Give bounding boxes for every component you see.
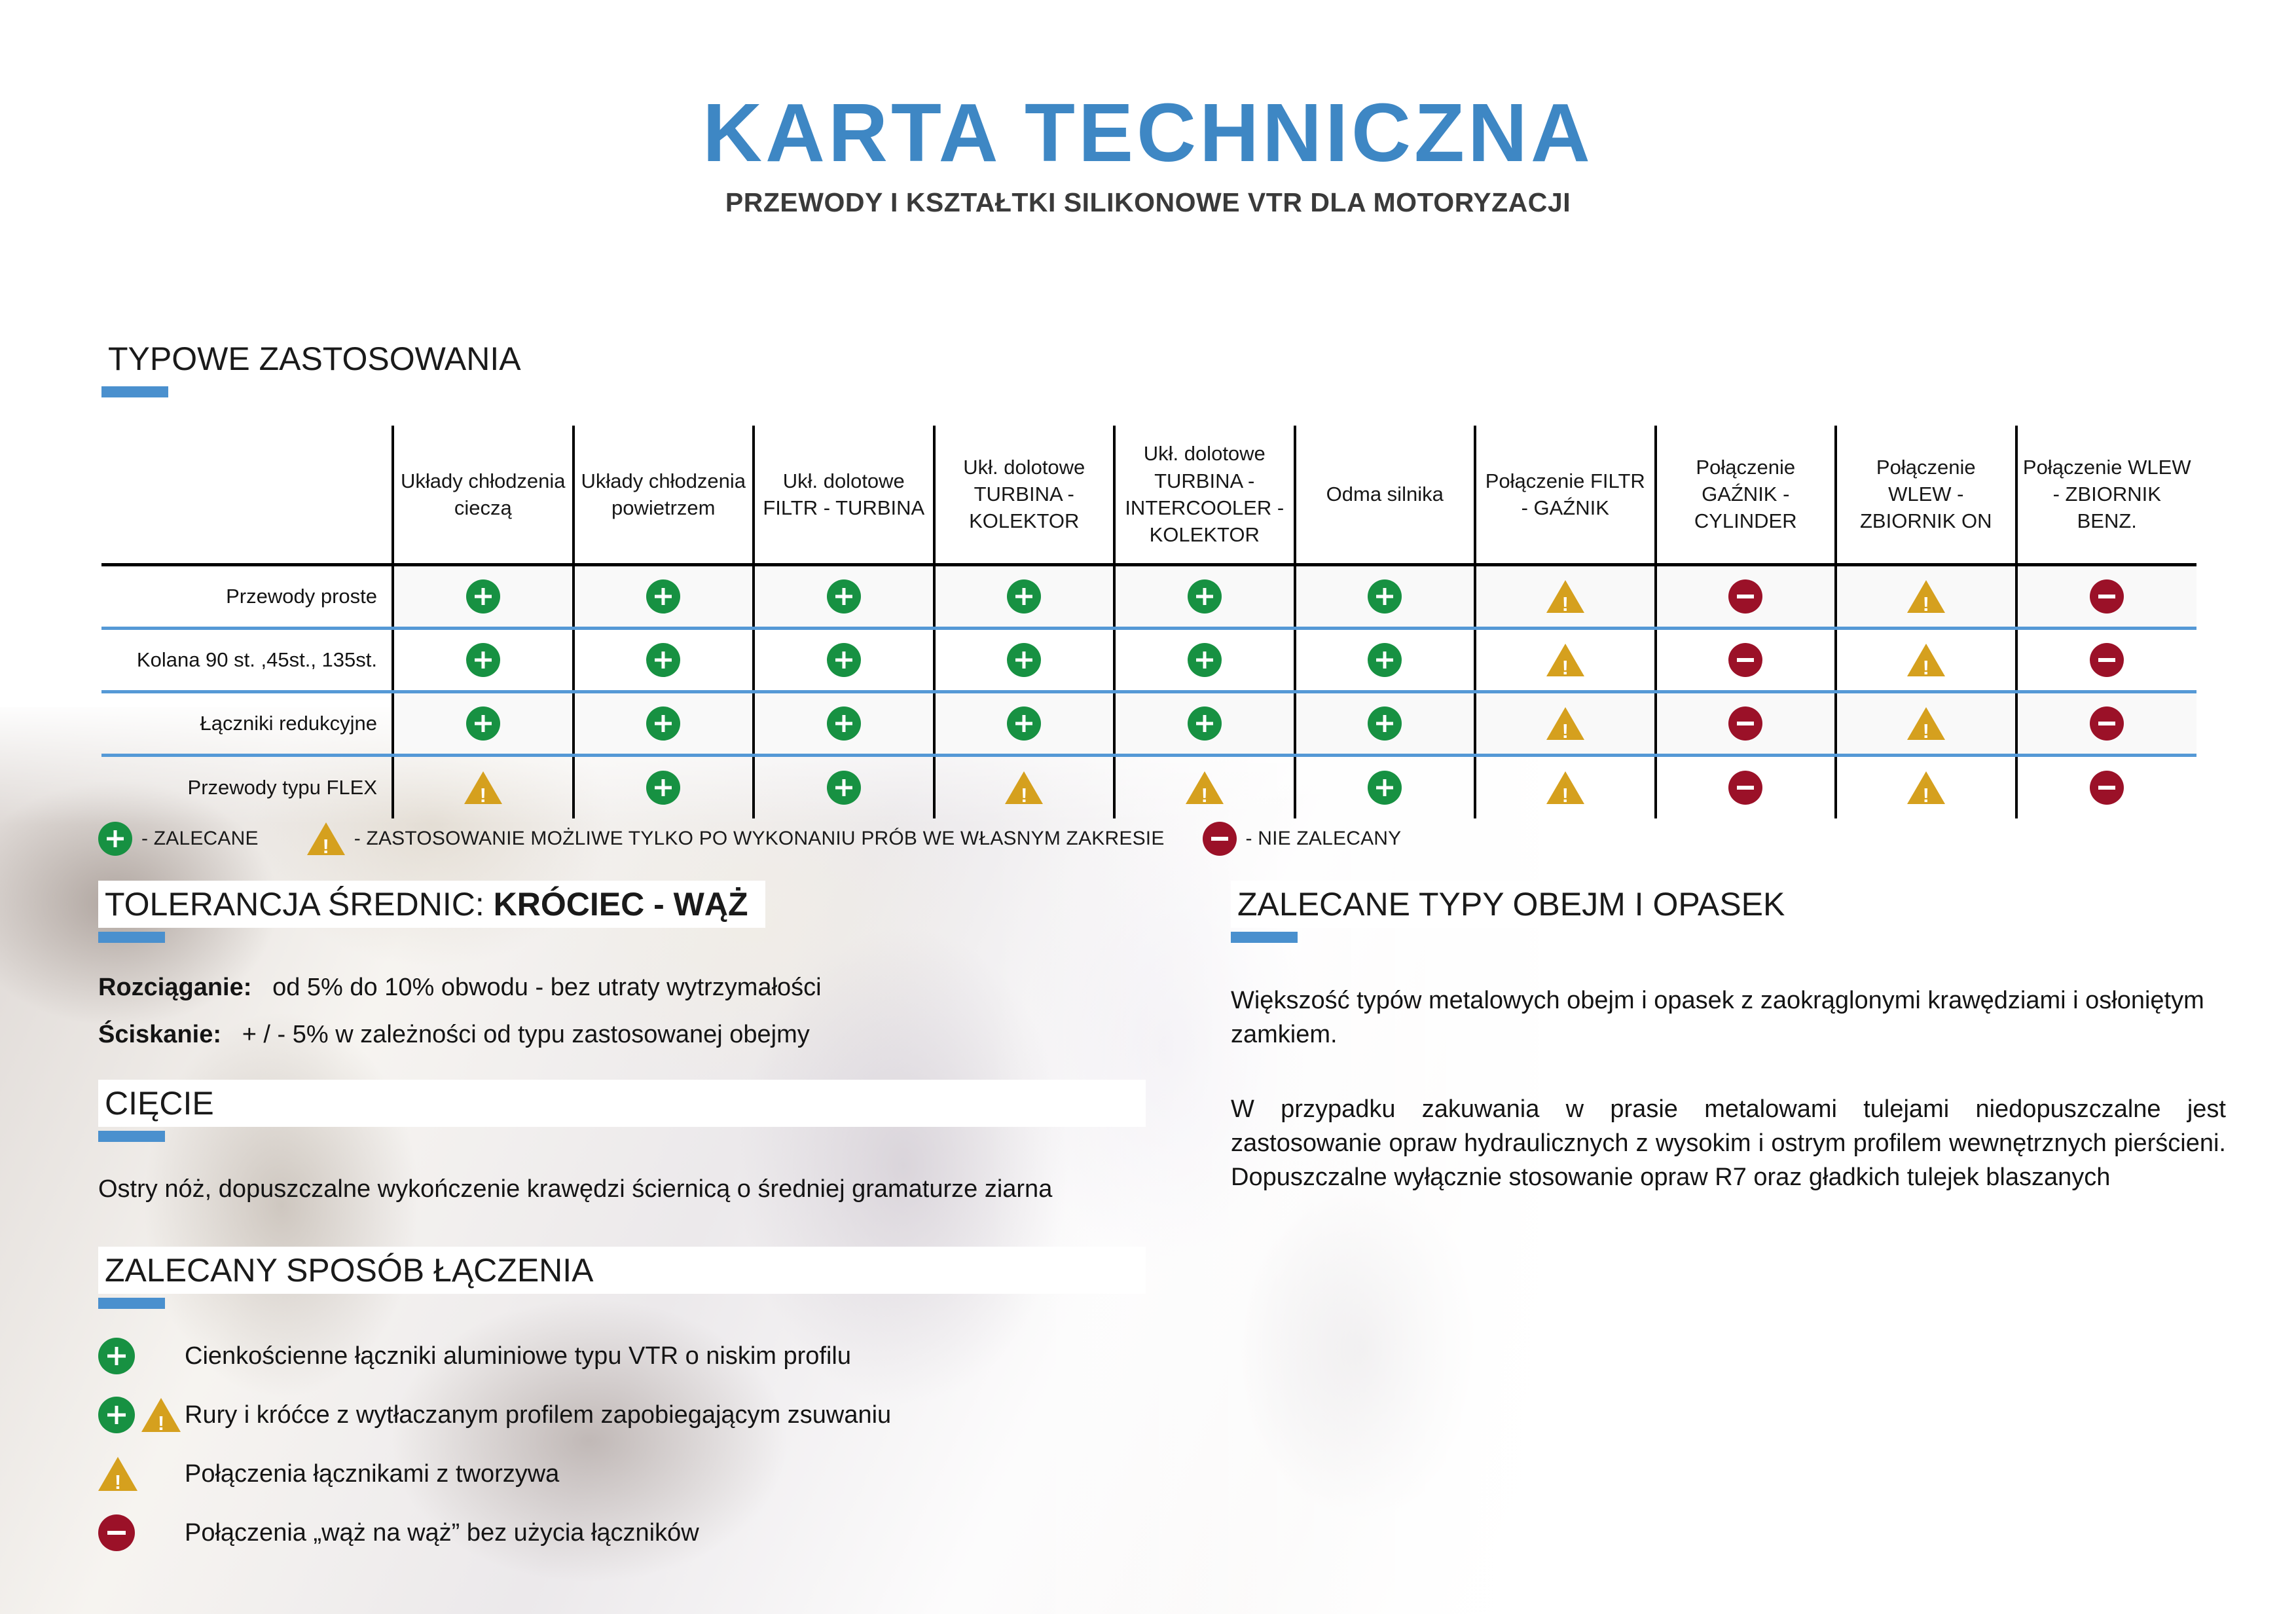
warning-triangle-icon (1546, 771, 1584, 804)
row-label-3: Przewody typu FLEX (101, 755, 393, 818)
plus-circle-icon (1188, 643, 1222, 677)
tolerance-line-compress: Ściskanie: + / - 5% w zależności od typu… (98, 1020, 1146, 1050)
matrix-cell-1-5 (1295, 628, 1476, 691)
row-label-2: Łączniki redukcyjne (101, 691, 393, 755)
plus-circle-icon (1007, 643, 1041, 677)
tolerance-value-compress: + / - 5% w zależności od typu zastosowan… (242, 1021, 810, 1048)
tolerance-heading-bold: KRÓCIEC - WĄŻ (494, 886, 748, 923)
matrix-cell-0-0 (393, 564, 574, 628)
heading-accent-rule (101, 386, 168, 397)
legend-label-not-recommended: - NIE ZALECANY (1246, 828, 1402, 850)
matrix-cell-1-9 (2016, 628, 2197, 691)
matrix-cell-1-3 (934, 628, 1115, 691)
plus-circle-icon (1188, 706, 1222, 741)
list-item-icons (98, 1514, 185, 1551)
matrix-cell-2-3 (934, 691, 1115, 755)
spacer (98, 943, 1146, 973)
legend-item-recommended: - ZALECANE (98, 822, 259, 856)
applications-matrix-table: Układy chłodzenia cieczą Układy chłodzen… (101, 426, 2196, 818)
table-row: Przewody proste (101, 564, 2196, 628)
minus-circle-icon (1728, 706, 1762, 741)
list-item: Rury i króćce z wytłaczanym profilem zap… (98, 1397, 1146, 1433)
column-header-3: Ukł. dolotowe TURBINA - KOLEKTOR (934, 426, 1115, 564)
matrix-cell-1-6 (1475, 628, 1656, 691)
matrix-cell-3-3 (934, 755, 1115, 818)
matrix-cell-2-9 (2016, 691, 2197, 755)
section-title-applications: TYPOWE ZASTOSOWANIA (101, 335, 538, 382)
tolerance-value-stretch: od 5% do 10% obwodu - bez utraty wytrzym… (272, 974, 822, 1001)
warning-triangle-icon (1546, 644, 1584, 676)
plus-circle-icon (466, 706, 500, 741)
matrix-cell-1-4 (1114, 628, 1295, 691)
column-header-7: Połączenie GAŹNIK - CYLINDER (1656, 426, 1836, 564)
plus-circle-icon (466, 643, 500, 677)
column-header-0: Układy chłodzenia cieczą (393, 426, 574, 564)
matrix-cell-3-6 (1475, 755, 1656, 818)
list-item-icons (98, 1397, 185, 1433)
page-subtitle: PRZEWODY I KSZTAŁTKI SILIKONOWE VTR DLA … (0, 187, 2296, 218)
heading-accent-rule (1231, 932, 1298, 943)
plus-circle-icon (1368, 643, 1402, 677)
plus-circle-icon (466, 579, 500, 614)
section-title-tolerance: TOLERANCJA ŚREDNIC: KRÓCIEC - WĄŻ (98, 881, 765, 928)
list-item-label: Połączenia „wąż na wąż” bez użycia łączn… (185, 1519, 699, 1547)
matrix-cell-3-1 (574, 755, 754, 818)
matrix-cell-0-9 (2016, 564, 2197, 628)
matrix-cell-2-6 (1475, 691, 1656, 755)
warning-triangle-icon (98, 1457, 137, 1491)
plus-circle-icon (1368, 579, 1402, 614)
matrix-cell-1-1 (574, 628, 754, 691)
matrix-cell-3-4 (1114, 755, 1295, 818)
column-header-6: Połączenie FILTR - GAŹNIK (1475, 426, 1656, 564)
plus-circle-icon (98, 822, 132, 856)
warning-triangle-icon (1907, 707, 1945, 740)
spacer (1231, 943, 2226, 983)
plus-circle-icon (1007, 706, 1041, 741)
matrix-cell-0-8 (1836, 564, 2016, 628)
minus-circle-icon (2090, 771, 2124, 805)
matrix-cell-0-5 (1295, 564, 1476, 628)
row-label-1: Kolana 90 st. ,45st., 135st. (101, 628, 393, 691)
plus-circle-icon (98, 1397, 135, 1433)
section-title-joining: ZALECANY SPOSÓB ŁĄCZENIA (98, 1247, 1146, 1294)
plus-circle-icon (1188, 579, 1222, 614)
table-row: Przewody typu FLEX (101, 755, 2196, 818)
warning-triangle-icon (1546, 580, 1584, 613)
legend-item-conditional: - ZASTOSOWANIE MOŻLIWE TYLKO PO WYKONANI… (307, 822, 1165, 855)
matrix-cell-0-6 (1475, 564, 1656, 628)
minus-circle-icon (1203, 822, 1237, 856)
list-item-icons (98, 1457, 185, 1491)
plus-circle-icon (1368, 771, 1402, 805)
matrix-cell-2-7 (1656, 691, 1836, 755)
technical-data-sheet-page: KARTA TECHNICZNA PRZEWODY I KSZTAŁTKI SI… (0, 0, 2296, 1614)
list-item: Połączenia łącznikami z tworzywa (98, 1456, 1146, 1492)
list-item-label: Cienkościenne łączniki aluminiowe typu V… (185, 1342, 851, 1370)
plus-circle-icon (646, 643, 680, 677)
plus-circle-icon (646, 706, 680, 741)
column-header-8: Połączenie WLEW - ZBIORNIK ON (1836, 426, 2016, 564)
heading-accent-rule (98, 932, 165, 943)
column-header-9: Połączenie WLEW - ZBIORNIK BENZ. (2016, 426, 2197, 564)
joining-section: ZALECANY SPOSÓB ŁĄCZENIA (98, 1247, 1146, 1309)
heading-accent-rule (98, 1298, 165, 1309)
matrix-cell-3-0 (393, 755, 574, 818)
spacer (98, 1050, 1146, 1080)
plus-circle-icon (646, 771, 680, 805)
cutting-section: CIĘCIE (98, 1080, 1146, 1142)
spacer (1231, 1052, 2226, 1092)
plus-circle-icon (1368, 706, 1402, 741)
minus-circle-icon (1728, 579, 1762, 614)
clamps-section: ZALECANE TYPY OBEJM I OPASEK (1231, 881, 2226, 943)
plus-circle-icon (98, 1338, 135, 1374)
warning-triangle-icon (1907, 771, 1945, 804)
matrix-cell-3-8 (1836, 755, 2016, 818)
warning-triangle-icon (307, 822, 345, 855)
section-title-cutting: CIĘCIE (98, 1080, 1146, 1127)
plus-circle-icon (827, 771, 861, 805)
table-row: Łączniki redukcyjne (101, 691, 2196, 755)
matrix-cell-2-0 (393, 691, 574, 755)
matrix-cell-2-8 (1836, 691, 2016, 755)
minus-circle-icon (1728, 771, 1762, 805)
matrix-cell-0-7 (1656, 564, 1836, 628)
matrix-cell-2-2 (754, 691, 934, 755)
legend-label-recommended: - ZALECANE (141, 828, 259, 850)
warning-triangle-icon (1186, 771, 1224, 804)
matrix-cell-3-5 (1295, 755, 1476, 818)
tolerance-heading-plain: TOLERANCJA ŚREDNIC: (105, 886, 494, 923)
matrix-cell-0-1 (574, 564, 754, 628)
column-header-1: Układy chłodzenia powietrzem (574, 426, 754, 564)
matrix-cell-2-5 (1295, 691, 1476, 755)
warning-triangle-icon (1907, 580, 1945, 613)
plus-circle-icon (827, 643, 861, 677)
list-item-label: Połączenia łącznikami z tworzywa (185, 1460, 559, 1488)
warning-triangle-icon (1907, 644, 1945, 676)
plus-circle-icon (646, 579, 680, 614)
clamps-paragraph-1: Większość typów metalowych obejm i opase… (1231, 983, 2226, 1052)
legend-item-not-recommended: - NIE ZALECANY (1203, 822, 1402, 856)
right-content-column: ZALECANE TYPY OBEJM I OPASEK Większość t… (1231, 881, 2226, 1194)
plus-circle-icon (1007, 579, 1041, 614)
minus-circle-icon (1728, 643, 1762, 677)
applications-section-heading: TYPOWE ZASTOSOWANIA (101, 335, 538, 397)
heading-accent-rule (98, 1131, 165, 1142)
table-row: Kolana 90 st. ,45st., 135st. (101, 628, 2196, 691)
tolerance-line-stretch: Rozciąganie: od 5% do 10% obwodu - bez u… (98, 973, 1146, 1003)
legend-label-conditional: - ZASTOSOWANIE MOŻLIWE TYLKO PO WYKONANI… (354, 828, 1165, 850)
matrix-cell-1-0 (393, 628, 574, 691)
warning-triangle-icon (1005, 771, 1043, 804)
page-title: KARTA TECHNICZNA (0, 92, 2296, 174)
tolerance-label-stretch: Rozciąganie: (98, 974, 251, 1001)
matrix-cell-0-4 (1114, 564, 1295, 628)
minus-circle-icon (2090, 706, 2124, 741)
table-header-row: Układy chłodzenia cieczą Układy chłodzen… (101, 426, 2196, 564)
column-header-2: Ukł. dolotowe FILTR - TURBINA (754, 426, 934, 564)
matrix-cell-2-1 (574, 691, 754, 755)
list-item: Cienkościenne łączniki aluminiowe typu V… (98, 1338, 1146, 1374)
tolerance-section: TOLERANCJA ŚREDNIC: KRÓCIEC - WĄŻ (98, 881, 1146, 943)
matrix-cell-0-2 (754, 564, 934, 628)
matrix-cell-1-8 (1836, 628, 2016, 691)
list-item-icons (98, 1338, 185, 1374)
matrix-cell-2-4 (1114, 691, 1295, 755)
warning-triangle-icon (141, 1398, 181, 1432)
tolerance-label-compress: Ściskanie: (98, 1021, 221, 1048)
row-label-0: Przewody proste (101, 564, 393, 628)
spacer (98, 1003, 1146, 1020)
section-title-clamps: ZALECANE TYPY OBEJM I OPASEK (1231, 881, 2226, 928)
document-header: KARTA TECHNICZNA PRZEWODY I KSZTAŁTKI SI… (0, 0, 2296, 218)
column-header-4: Ukł. dolotowe TURBINA - INTERCOOLER - KO… (1114, 426, 1295, 564)
column-header-5: Odma silnika (1295, 426, 1476, 564)
minus-circle-icon (98, 1514, 135, 1551)
spacer (98, 1142, 1146, 1172)
spacer (98, 1206, 1146, 1247)
plus-circle-icon (827, 706, 861, 741)
clamps-paragraph-2: W przypadku zakuwania w prasie metalowam… (1231, 1092, 2226, 1194)
matrix-cell-3-9 (2016, 755, 2197, 818)
cutting-paragraph: Ostry nóż, dopuszczalne wykończenie kraw… (98, 1172, 1146, 1206)
matrix-cell-1-7 (1656, 628, 1836, 691)
status-legend: - ZALECANE - ZASTOSOWANIE MOŻLIWE TYLKO … (98, 822, 1401, 856)
matrix-cell-1-2 (754, 628, 934, 691)
left-content-column: TOLERANCJA ŚREDNIC: KRÓCIEC - WĄŻ Rozcią… (98, 881, 1146, 1573)
joining-methods-list: Cienkościenne łączniki aluminiowe typu V… (98, 1338, 1146, 1551)
matrix-cell-3-7 (1656, 755, 1836, 818)
matrix-cell-3-2 (754, 755, 934, 818)
minus-circle-icon (2090, 579, 2124, 614)
plus-circle-icon (827, 579, 861, 614)
column-header-rowlabel (101, 426, 393, 564)
list-item: Połączenia „wąż na wąż” bez użycia łączn… (98, 1514, 1146, 1551)
minus-circle-icon (2090, 643, 2124, 677)
warning-triangle-icon (1546, 707, 1584, 740)
matrix-cell-0-3 (934, 564, 1115, 628)
list-item-label: Rury i króćce z wytłaczanym profilem zap… (185, 1401, 891, 1429)
warning-triangle-icon (464, 771, 502, 804)
